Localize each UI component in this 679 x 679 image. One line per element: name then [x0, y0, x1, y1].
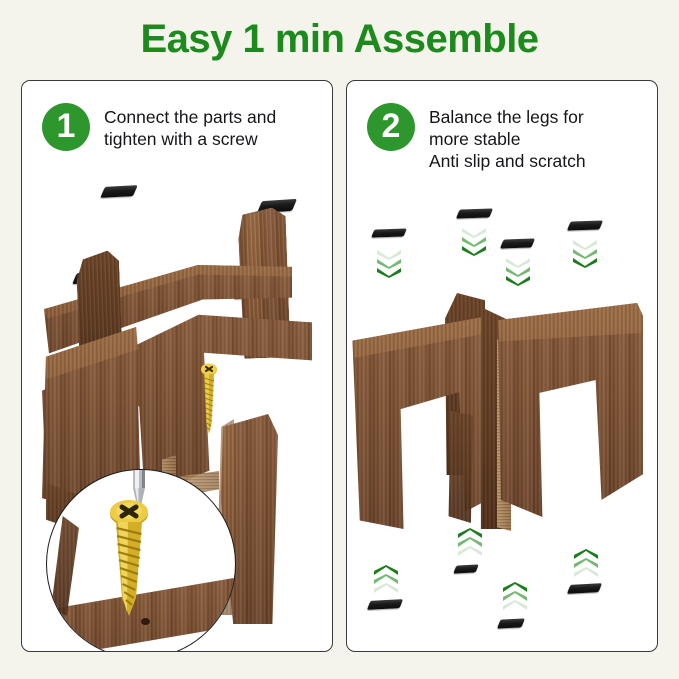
- green-chevron-arrow-up: [502, 582, 528, 609]
- black-rubber-pad: [367, 599, 403, 610]
- chevron-up-icon: [573, 567, 599, 578]
- black-rubber-pad: [497, 618, 525, 628]
- page-title: Easy 1 min Assemble: [0, 14, 679, 64]
- green-chevron-arrow-up: [457, 528, 483, 555]
- green-chevron-arrow-down: [461, 227, 487, 254]
- screwdriver-detail-inset: [46, 469, 236, 652]
- green-chevron-arrow-down: [376, 249, 402, 276]
- step-1-panel: 1 Connect the parts and tighten with a s…: [21, 80, 333, 652]
- gold-phillips-screw: [200, 362, 218, 440]
- chevron-up-icon: [457, 546, 483, 557]
- green-chevron-arrow-down: [505, 257, 531, 284]
- green-chevron-arrow-up: [373, 565, 399, 592]
- chevron-up-icon: [373, 583, 399, 594]
- step-1-illustration: [22, 81, 332, 651]
- black-rubber-pad: [371, 228, 407, 237]
- black-rubber-pad: [567, 583, 602, 594]
- step-2-illustration: [347, 81, 657, 651]
- inset-gold-phillips-screw: [107, 500, 151, 627]
- step-2-panel: 2 Balance the legs for more stable Anti …: [346, 80, 658, 652]
- chevron-up-icon: [502, 600, 528, 611]
- green-chevron-arrow-down: [572, 239, 598, 266]
- assembled-stand-rear-leg: [447, 411, 473, 523]
- green-chevron-arrow-up: [573, 549, 599, 576]
- black-rubber-pad: [500, 238, 535, 248]
- black-rubber-pad: [100, 185, 138, 198]
- black-rubber-pad: [453, 564, 479, 573]
- inset-wood-sliver: [46, 516, 79, 616]
- black-rubber-pad: [567, 220, 603, 230]
- black-rubber-pad: [456, 208, 493, 218]
